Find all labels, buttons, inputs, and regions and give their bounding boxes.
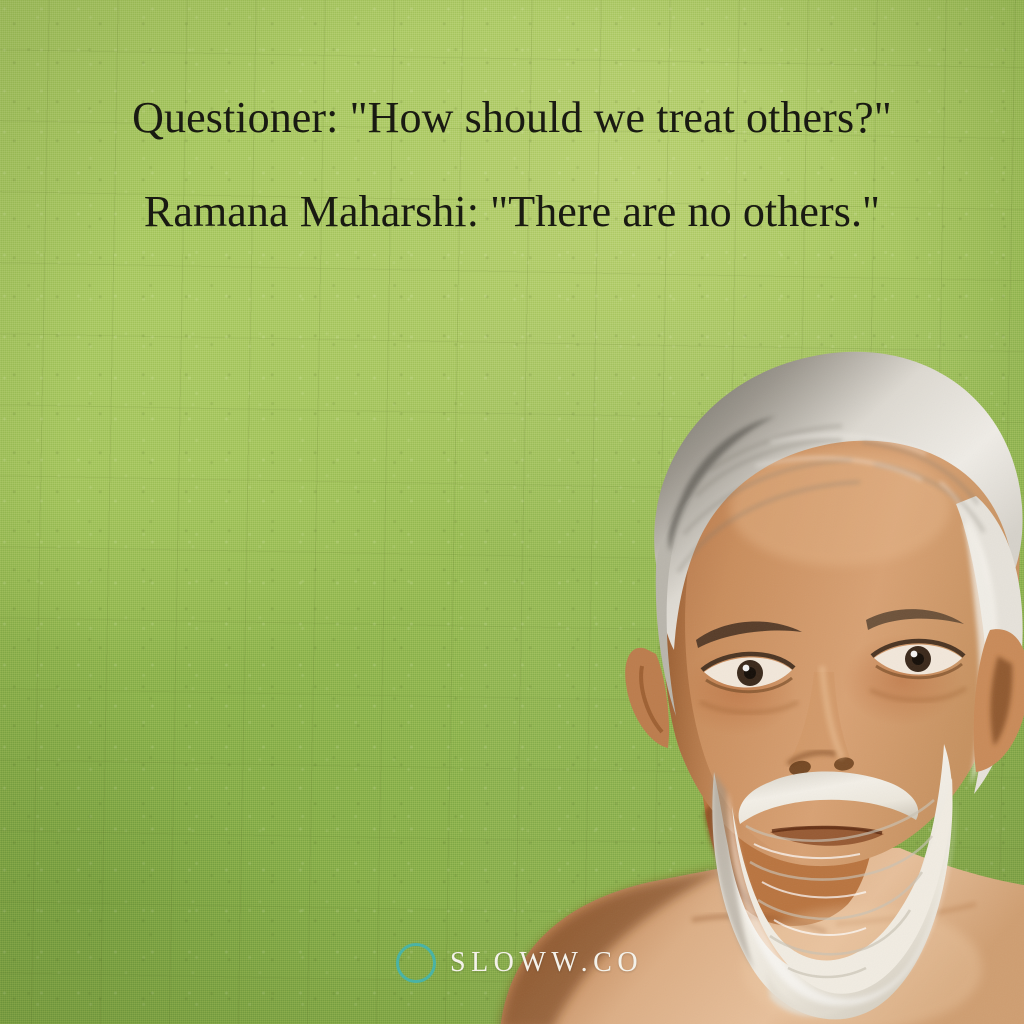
circle-ring-icon xyxy=(396,943,436,983)
quote-line-question: Questioner: "How should we treat others?… xyxy=(0,96,1024,140)
brand-name: SLOWW.CO xyxy=(450,947,643,979)
brand-logo[interactable]: SLOWW.CO xyxy=(396,943,643,983)
quote-block: Questioner: "How should we treat others?… xyxy=(0,96,1024,234)
quote-poster: Questioner: "How should we treat others?… xyxy=(0,0,1024,1024)
portrait-ramana-maharshi xyxy=(470,320,1024,1024)
quote-line-answer: Ramana Maharshi: "There are no others." xyxy=(0,190,1024,234)
